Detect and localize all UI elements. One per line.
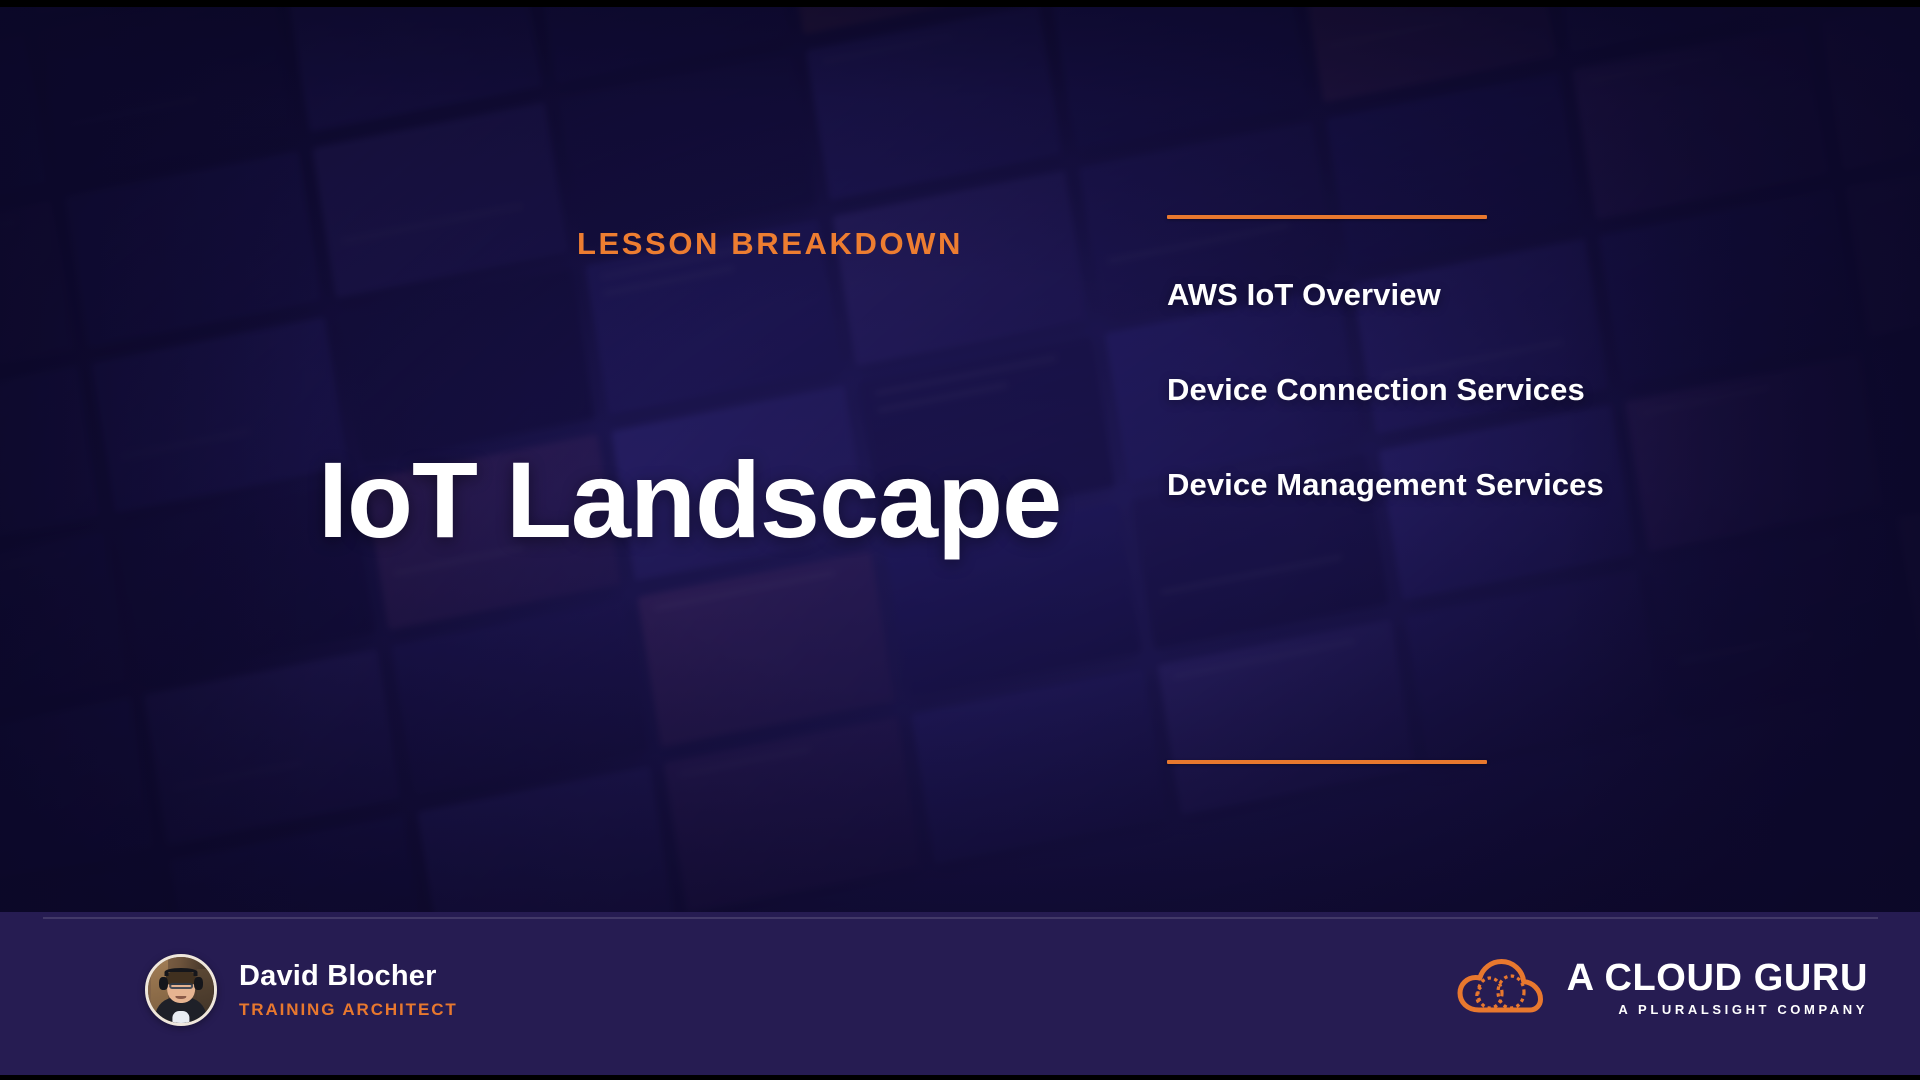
footer-separator [43, 917, 1878, 919]
headphones-icon [165, 968, 198, 976]
letterbox-bar-top [0, 0, 1920, 7]
presenter-role: TRAINING ARCHITECT [239, 1000, 458, 1020]
divider-top [1167, 215, 1487, 219]
cloud-guru-cloud-icon [1457, 956, 1545, 1018]
brand-lockup: A CLOUD GURU A PLURALSIGHT COMPANY [1457, 956, 1868, 1018]
presenter-name: David Blocher [239, 960, 458, 993]
glasses-icon [169, 983, 193, 989]
brand-name: A CLOUD GURU [1567, 959, 1868, 997]
page-title: IoT Landscape [318, 443, 1061, 556]
presenter-text: David Blocher TRAINING ARCHITECT [239, 960, 458, 1020]
list-item: Device Management Services [1167, 467, 1497, 503]
list-item: AWS IoT Overview [1167, 277, 1497, 313]
divider-bottom [1167, 760, 1487, 764]
letterbox-bar-bottom [0, 1075, 1920, 1080]
avatar [145, 954, 217, 1026]
brand-tagline: A PLURALSIGHT COMPANY [1567, 1003, 1868, 1016]
lesson-breakdown-panel: AWS IoT Overview Device Connection Servi… [1167, 215, 1497, 503]
list-item: Device Connection Services [1167, 372, 1497, 408]
slide-footer: David Blocher TRAINING ARCHITECT A CLOUD… [0, 912, 1920, 1080]
lesson-breakdown-slide: LESSON BREAKDOWN IoT Landscape AWS IoT O… [0, 0, 1920, 1080]
lesson-breakdown-list: AWS IoT Overview Device Connection Servi… [1167, 277, 1497, 503]
presenter-block: David Blocher TRAINING ARCHITECT [145, 954, 458, 1026]
brand-text: A CLOUD GURU A PLURALSIGHT COMPANY [1567, 959, 1868, 1016]
